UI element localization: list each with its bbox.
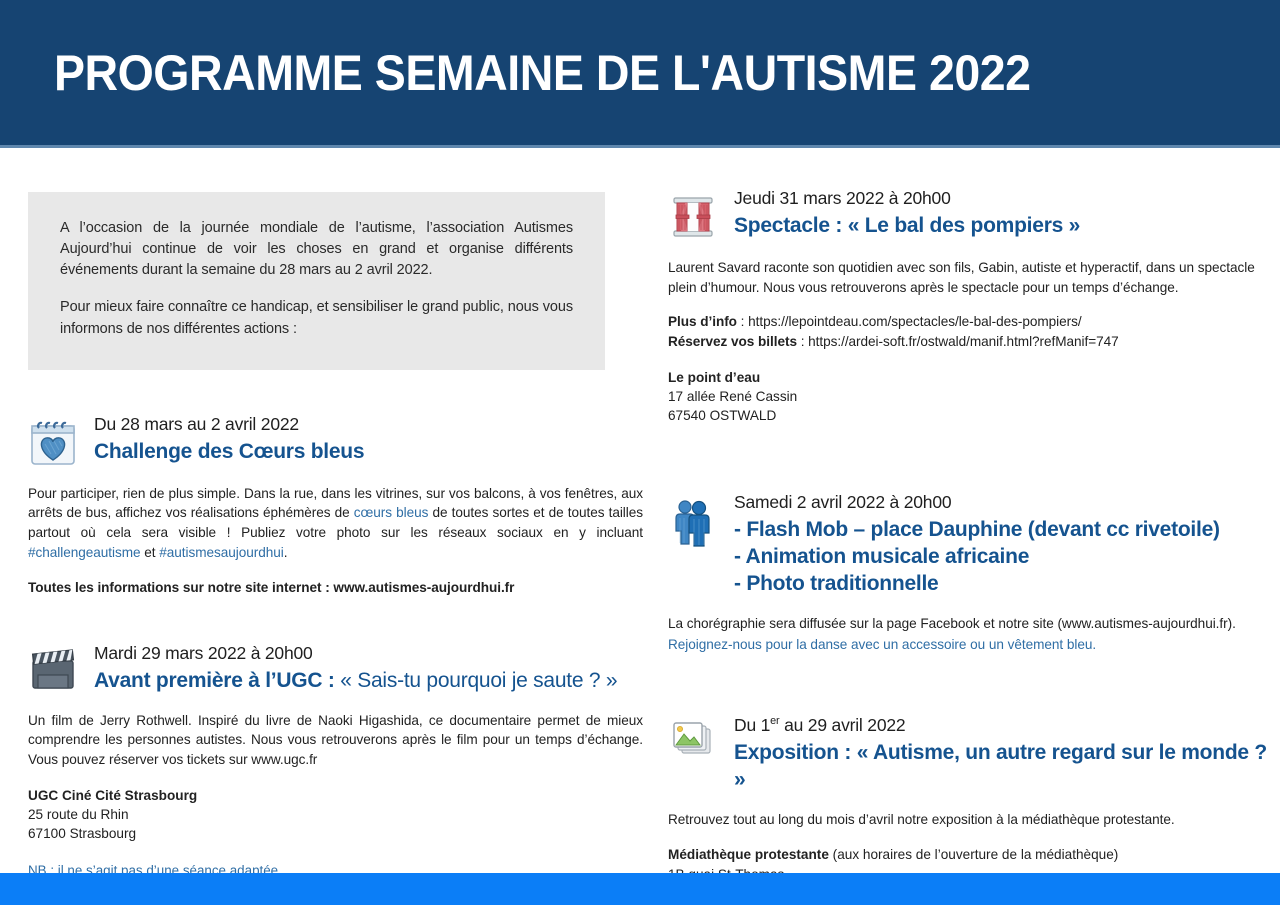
event-paragraph: Pour participer, rien de plus simple. Da… [28, 484, 643, 563]
event-description: La chorégraphie sera diffusée sur la pag… [668, 614, 1280, 655]
event-title: Exposition : « Autisme, un autre regard … [734, 739, 1280, 794]
event-heading-text: Mardi 29 mars 2022 à 20h00 Avant premièr… [84, 643, 643, 694]
info-label: Plus d’info [668, 314, 737, 329]
theater-curtain-icon [668, 188, 724, 242]
event-title: Challenge des Cœurs bleus [94, 438, 643, 465]
highlight-coeurs-bleus: cœurs bleus [354, 505, 429, 520]
event-coeurs-bleus: Du 28 mars au 2 avril 2022 Challenge des… [28, 414, 643, 598]
booking-url[interactable]: : https://ardei-soft.fr/ostwald/manif.ht… [797, 334, 1119, 349]
venue-name: Le point d’eau [668, 368, 1280, 387]
hashtag-autismesaujourdhui[interactable]: #autismesaujourdhui [159, 545, 284, 560]
intro-paragraph-1: A l’occasion de la journée mondiale de l… [60, 218, 573, 281]
venue-street: 17 allée René Cassin [668, 387, 1280, 406]
event-call-to-action: Rejoignez-nous pour la danse avec un acc… [668, 635, 1280, 655]
event-title: Spectacle : « Le bal des pompiers » [734, 212, 1280, 239]
venue-hours: (aux horaires de l’ouverture de la média… [829, 847, 1118, 862]
event-paragraph: La chorégraphie sera diffusée sur la pag… [668, 614, 1280, 634]
event-heading-text: Du 1er au 29 avril 2022 Exposition : « A… [724, 715, 1280, 794]
info-label: Toutes les informations sur notre site i… [28, 580, 333, 595]
event-header: Mardi 29 mars 2022 à 20h00 Avant premièr… [28, 643, 643, 694]
calendar-heart-icon [28, 414, 84, 468]
event-title: - Flash Mob – place Dauphine (devant cc … [734, 516, 1280, 598]
event-heading-text: Du 28 mars au 2 avril 2022 Challenge des… [84, 414, 643, 465]
event-date: Du 1er au 29 avril 2022 [734, 715, 1280, 736]
title-line-2: - Animation musicale africaine [734, 543, 1280, 570]
website-link[interactable]: www.autismes-aujourdhui.fr [333, 580, 514, 595]
page-header: PROGRAMME SEMAINE DE L'AUTISME 2022 [0, 0, 1280, 148]
venue-name: UGC Ciné Cité Strasbourg [28, 786, 643, 805]
event-description: Un film de Jerry Rothwell. Inspiré du li… [28, 711, 643, 770]
venue-city: 67100 Strasbourg [28, 824, 643, 843]
title-line-1: - Flash Mob – place Dauphine (devant cc … [734, 518, 1220, 541]
event-paragraph: Un film de Jerry Rothwell. Inspiré du li… [28, 711, 643, 770]
venue-name-line: Médiathèque protestante (aux horaires de… [668, 845, 1280, 864]
title-line-3: - Photo traditionnelle [734, 570, 1280, 597]
right-column: Jeudi 31 mars 2022 à 20h00 Spectacle : «… [668, 148, 1280, 903]
venue-name: Médiathèque protestante [668, 847, 829, 862]
event-paragraph: Laurent Savard raconte son quotidien ave… [668, 258, 1280, 297]
venue-city: 67540 OSTWALD [668, 406, 1280, 425]
event-date: Du 28 mars au 2 avril 2022 [94, 414, 643, 435]
event-header: Jeudi 31 mars 2022 à 20h00 Spectacle : «… [668, 188, 1280, 242]
intro-box: A l’occasion de la journée mondiale de l… [28, 192, 605, 370]
event-ugc: Mardi 29 mars 2022 à 20h00 Avant premièr… [28, 643, 643, 877]
event-date: Mardi 29 mars 2022 à 20h00 [94, 643, 643, 664]
event-date: Jeudi 31 mars 2022 à 20h00 [734, 188, 1280, 209]
footer-bar [0, 873, 1280, 905]
event-links: Plus d’info : https://lepointdeau.com/sp… [668, 312, 1280, 351]
two-people-icon [668, 492, 724, 548]
event-heading-text: Jeudi 31 mars 2022 à 20h00 Spectacle : «… [724, 188, 1280, 239]
title-bold-part: Avant première à l’UGC : [94, 669, 340, 692]
event-description: Laurent Savard raconte son quotidien ave… [668, 258, 1280, 352]
intro-paragraph-2: Pour mieux faire connaître ce handicap, … [60, 297, 573, 339]
event-description: Retrouvez tout au long du mois d’avril n… [668, 810, 1280, 830]
event-description: Pour participer, rien de plus simple. Da… [28, 484, 643, 598]
event-header: Du 28 mars au 2 avril 2022 Challenge des… [28, 414, 643, 468]
event-flashmob: Samedi 2 avril 2022 à 20h00 - Flash Mob … [668, 492, 1280, 655]
event-header: Du 1er au 29 avril 2022 Exposition : « A… [668, 715, 1280, 794]
event-date: Samedi 2 avril 2022 à 20h00 [734, 492, 1280, 513]
hashtag-challengeautisme[interactable]: #challengeautisme [28, 545, 141, 560]
clapperboard-icon [28, 643, 84, 693]
photo-stack-icon [668, 715, 724, 765]
page-content: A l’occasion de la journée mondiale de l… [0, 148, 1280, 873]
venue-address: Le point d’eau 17 allée René Cassin 6754… [668, 368, 1280, 426]
title-light-part: « Sais-tu pourquoi je saute ? » [340, 669, 617, 692]
text-run: . [284, 545, 288, 560]
event-heading-text: Samedi 2 avril 2022 à 20h00 - Flash Mob … [724, 492, 1280, 598]
text-run: et [141, 545, 160, 560]
event-header: Samedi 2 avril 2022 à 20h00 - Flash Mob … [668, 492, 1280, 598]
venue-address: UGC Ciné Cité Strasbourg 25 route du Rhi… [28, 786, 643, 844]
event-title: Avant première à l’UGC : « Sais-tu pourq… [94, 667, 643, 694]
info-url[interactable]: : https://lepointdeau.com/spectacles/le-… [737, 314, 1082, 329]
event-info-line: Toutes les informations sur notre site i… [28, 578, 643, 598]
left-column: A l’occasion de la journée mondiale de l… [28, 148, 643, 878]
venue-street: 25 route du Rhin [28, 805, 643, 824]
page-title: PROGRAMME SEMAINE DE L'AUTISME 2022 [0, 44, 1031, 102]
event-spectacle: Jeudi 31 mars 2022 à 20h00 Spectacle : «… [668, 188, 1280, 426]
date-prefix: Du 1 [734, 715, 770, 735]
date-suffix: au 29 avril 2022 [779, 715, 905, 735]
event-paragraph: Retrouvez tout au long du mois d’avril n… [668, 810, 1280, 830]
booking-label: Réservez vos billets [668, 334, 797, 349]
